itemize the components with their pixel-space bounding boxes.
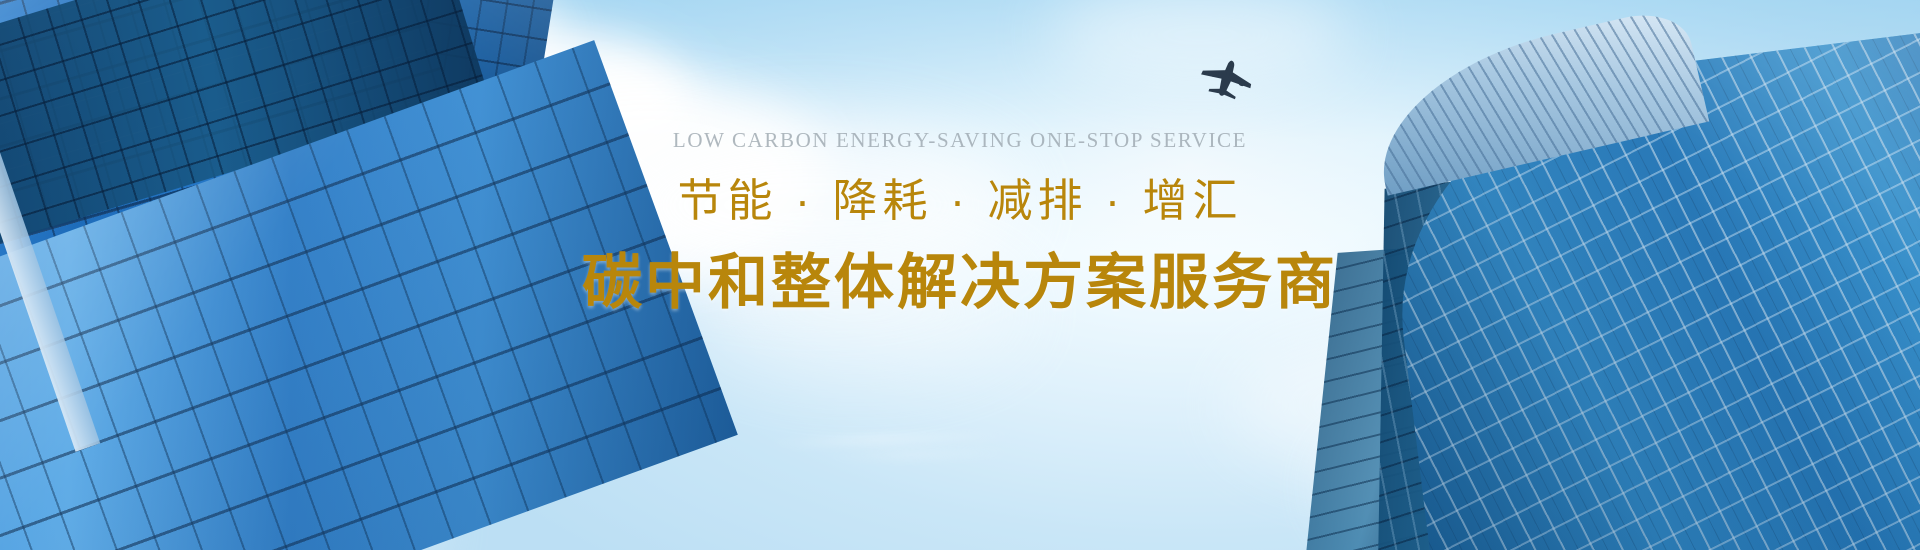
banner-text-block: LOW CARBON ENERGY-SAVING ONE-STOP SERVIC… (0, 130, 1920, 314)
banner-subtitle: 节能 · 降耗 · 减排 · 增汇 (0, 178, 1920, 223)
english-tagline: LOW CARBON ENERGY-SAVING ONE-STOP SERVIC… (0, 130, 1920, 151)
hero-banner: LOW CARBON ENERGY-SAVING ONE-STOP SERVIC… (0, 0, 1920, 550)
banner-main-title: 碳中和整体解决方案服务商 (0, 251, 1920, 314)
